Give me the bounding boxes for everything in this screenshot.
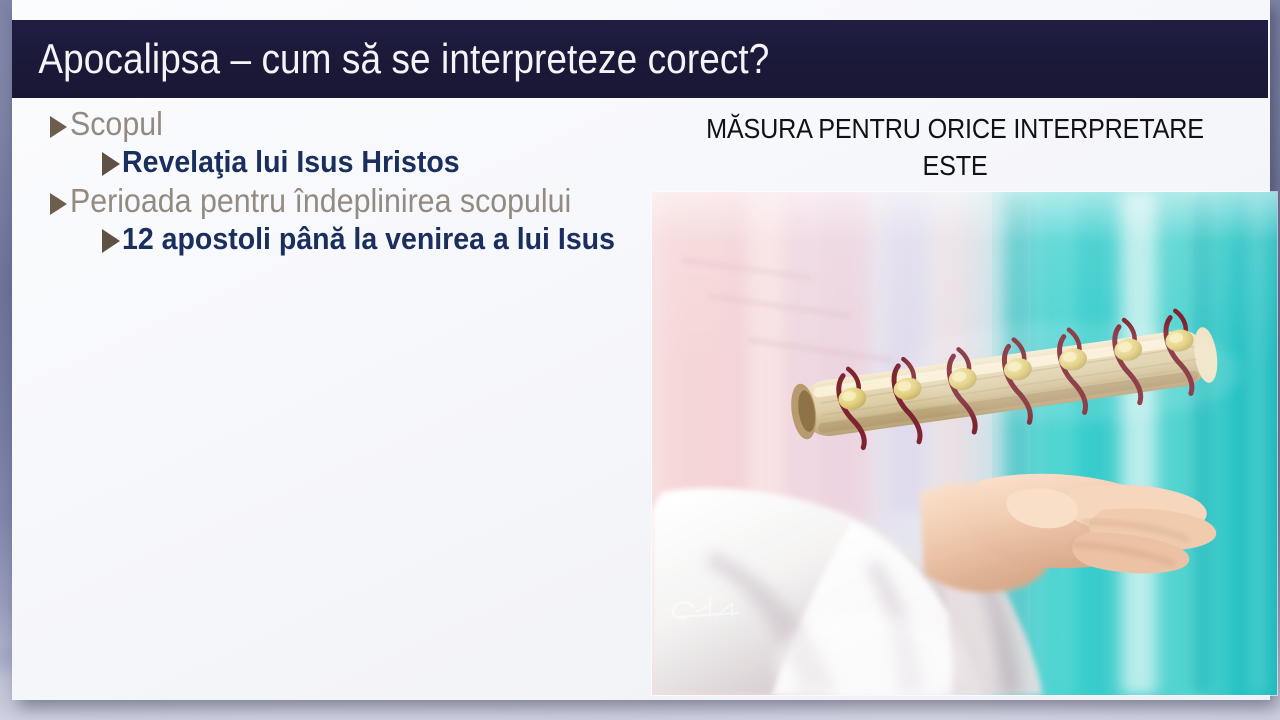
bullet-item-level1: Perioada pentru îndeplinirea scopului [50, 182, 642, 220]
bullet-item-level2: 12 apostoli până la venirea a lui Isus [102, 221, 642, 257]
triangle-bullet-icon [102, 229, 120, 253]
bullet-list: Scopul Revelaţia lui Isus Hristos Perioa… [32, 104, 642, 259]
scroll-with-seven-seals-illustration [652, 192, 1277, 695]
bullet-item-level2: Revelaţia lui Isus Hristos [102, 144, 642, 180]
bullet-item-level1: Scopul [50, 105, 642, 143]
heading-line-1: MĂSURA PENTRU ORICE INTERPRETARE ESTE [672, 110, 1239, 184]
page-title: Apocalipsa – cum să se interpreteze core… [12, 35, 769, 83]
bullet-text: Scopul [70, 105, 163, 143]
bullet-text: Perioada pentru îndeplinirea scopului [70, 182, 571, 220]
triangle-bullet-icon [50, 193, 67, 215]
presentation-viewer: Apocalipsa – cum să se interpreteze core… [0, 0, 1280, 720]
triangle-bullet-icon [50, 116, 67, 138]
bullet-text: 12 apostoli până la venirea a lui Isus [122, 221, 615, 257]
slide-surface: Apocalipsa – cum să se interpreteze core… [12, 0, 1270, 700]
slide-picture [652, 192, 1277, 695]
slide-title-bar: Apocalipsa – cum să se interpreteze core… [12, 20, 1268, 98]
bullet-text: Revelaţia lui Isus Hristos [122, 144, 460, 180]
triangle-bullet-icon [102, 152, 120, 176]
